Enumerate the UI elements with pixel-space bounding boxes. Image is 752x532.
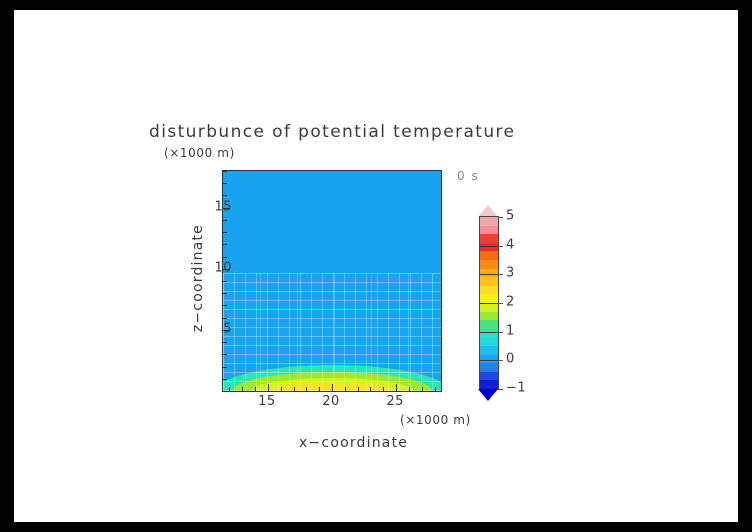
ambient-upper-band (223, 171, 441, 299)
colorbar-tick (498, 274, 503, 275)
colorbar-tick (498, 303, 503, 304)
colorbar-divider (480, 332, 498, 333)
x-axis-title: x−coordinate (299, 435, 408, 451)
y-tick-minor (223, 220, 227, 221)
figure-canvas: disturbunce of potential temperature (×1… (14, 10, 738, 522)
colorbar-tick (498, 246, 503, 247)
y-tick-minor (223, 354, 227, 355)
x-tick-minor (281, 387, 282, 391)
colorbar-tick-label: 2 (506, 295, 515, 310)
x-tick-major (332, 384, 333, 391)
contour-field (223, 171, 441, 391)
colorbar-divider (480, 360, 498, 361)
y-tick-label: 15 (210, 199, 232, 214)
colorbar-tick-label: 5 (506, 209, 515, 224)
x-tick-minor (229, 387, 230, 391)
y-tick-minor (223, 318, 227, 319)
y-tick-minor (223, 257, 227, 258)
y-tick-minor (223, 379, 227, 380)
colorbar-divider (480, 303, 498, 304)
x-tick-label: 25 (386, 394, 404, 409)
colorbar-tick-label: −1 (506, 381, 526, 396)
colorbar-divider (480, 274, 498, 275)
x-tick-minor (409, 387, 410, 391)
colorbar (479, 216, 499, 390)
x-tick-minor (383, 387, 384, 391)
x-tick-minor (306, 387, 307, 391)
y-tick-minor (223, 342, 227, 343)
y-tick-label: 5 (210, 321, 232, 336)
colorbar-tick-label: 1 (506, 323, 515, 338)
colorbar-tick (498, 217, 503, 218)
x-tick-minor (422, 387, 423, 391)
page-title: disturbunce of potential temperature (149, 122, 515, 142)
y-tick-minor (223, 244, 227, 245)
x-tick-minor (435, 387, 436, 391)
contour-plot-area (222, 170, 442, 392)
y-tick-minor (223, 391, 227, 392)
colorbar-tick-label: 0 (506, 352, 515, 367)
y-tick-minor (223, 305, 227, 306)
y-tick-minor (223, 183, 227, 184)
y-tick-minor (223, 232, 227, 233)
x-tick-label: 20 (322, 394, 340, 409)
y-tick-minor (223, 281, 227, 282)
y-tick-minor (223, 195, 227, 196)
x-tick-minor (345, 387, 346, 391)
colorbar-tick (498, 360, 503, 361)
y-tick-label: 10 (210, 260, 232, 275)
y-tick-minor (223, 293, 227, 294)
x-tick-label: 15 (258, 394, 276, 409)
y-tick-minor (223, 171, 227, 172)
x-tick-minor (319, 387, 320, 391)
colorbar-tick-label: 3 (506, 266, 515, 281)
x-tick-minor (294, 387, 295, 391)
x-tick-minor (242, 387, 243, 391)
x-tick-minor (370, 387, 371, 391)
x-tick-minor (358, 387, 359, 391)
y-tick-minor (223, 367, 227, 368)
x-axis-unit-label: (×1000 m) (400, 413, 471, 427)
colorbar-divider (480, 246, 498, 247)
colorbar-tick (498, 332, 503, 333)
colorbar-cap-bottom (478, 389, 498, 401)
x-tick-minor (255, 387, 256, 391)
title-unit-label: (×1000 m) (164, 146, 235, 160)
x-tick-major (268, 384, 269, 391)
colorbar-tick (498, 389, 503, 390)
colorbar-tick-label: 4 (506, 237, 515, 252)
time-stamp-label: 0 s (457, 169, 479, 183)
y-axis-title: z−coordinate (190, 224, 206, 332)
x-tick-major (396, 384, 397, 391)
